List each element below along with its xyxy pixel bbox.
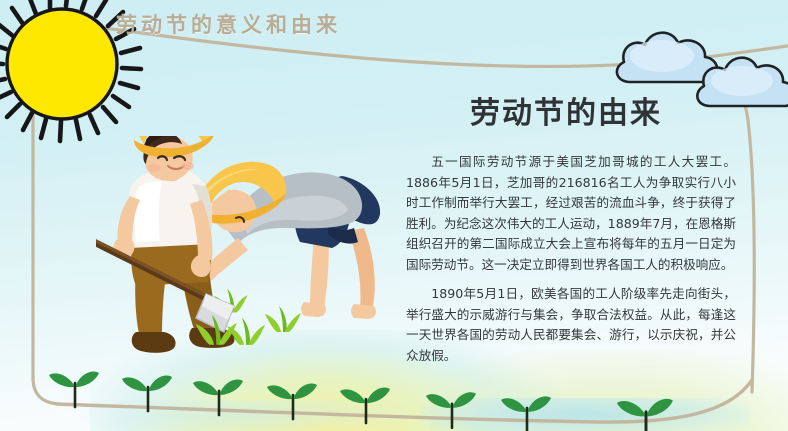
sprout-icon [501,396,551,431]
page-title: 劳动节的意义和由来 [116,9,341,39]
paragraph-2: 1890年5月1日，欧美各国的工人阶级率先走向街头，举行盛大的示威游行与集会，争… [406,284,736,366]
sprout-icon [617,399,673,431]
farmers-illustration [96,136,396,368]
article-body: 五一国际劳动节源于美国芝加哥城的工人大罢工。1886年5月1日，芝加哥的2168… [406,152,736,366]
main-heading: 劳动节的由来 [470,88,662,132]
water-haze-right [420,398,750,431]
sprout-icon [267,384,317,420]
sprout-icon [193,379,243,415]
farmer-bending [185,162,380,319]
sprout-icon [49,372,99,408]
sprout-icon [122,376,172,412]
cloud-icon-right [690,42,788,118]
water-haze-left [80,400,410,431]
paragraph-1: 五一国际劳动节源于美国芝加哥城的工人大罢工。1886年5月1日，芝加哥的2168… [406,152,736,275]
poster-canvas: 劳动节的意义和由来 劳动节的由来 五一国际劳动节源于美国芝加哥城的工人大罢工。1… [0,0,788,431]
sprout-icon [426,392,476,428]
sprout-icon [340,388,390,424]
